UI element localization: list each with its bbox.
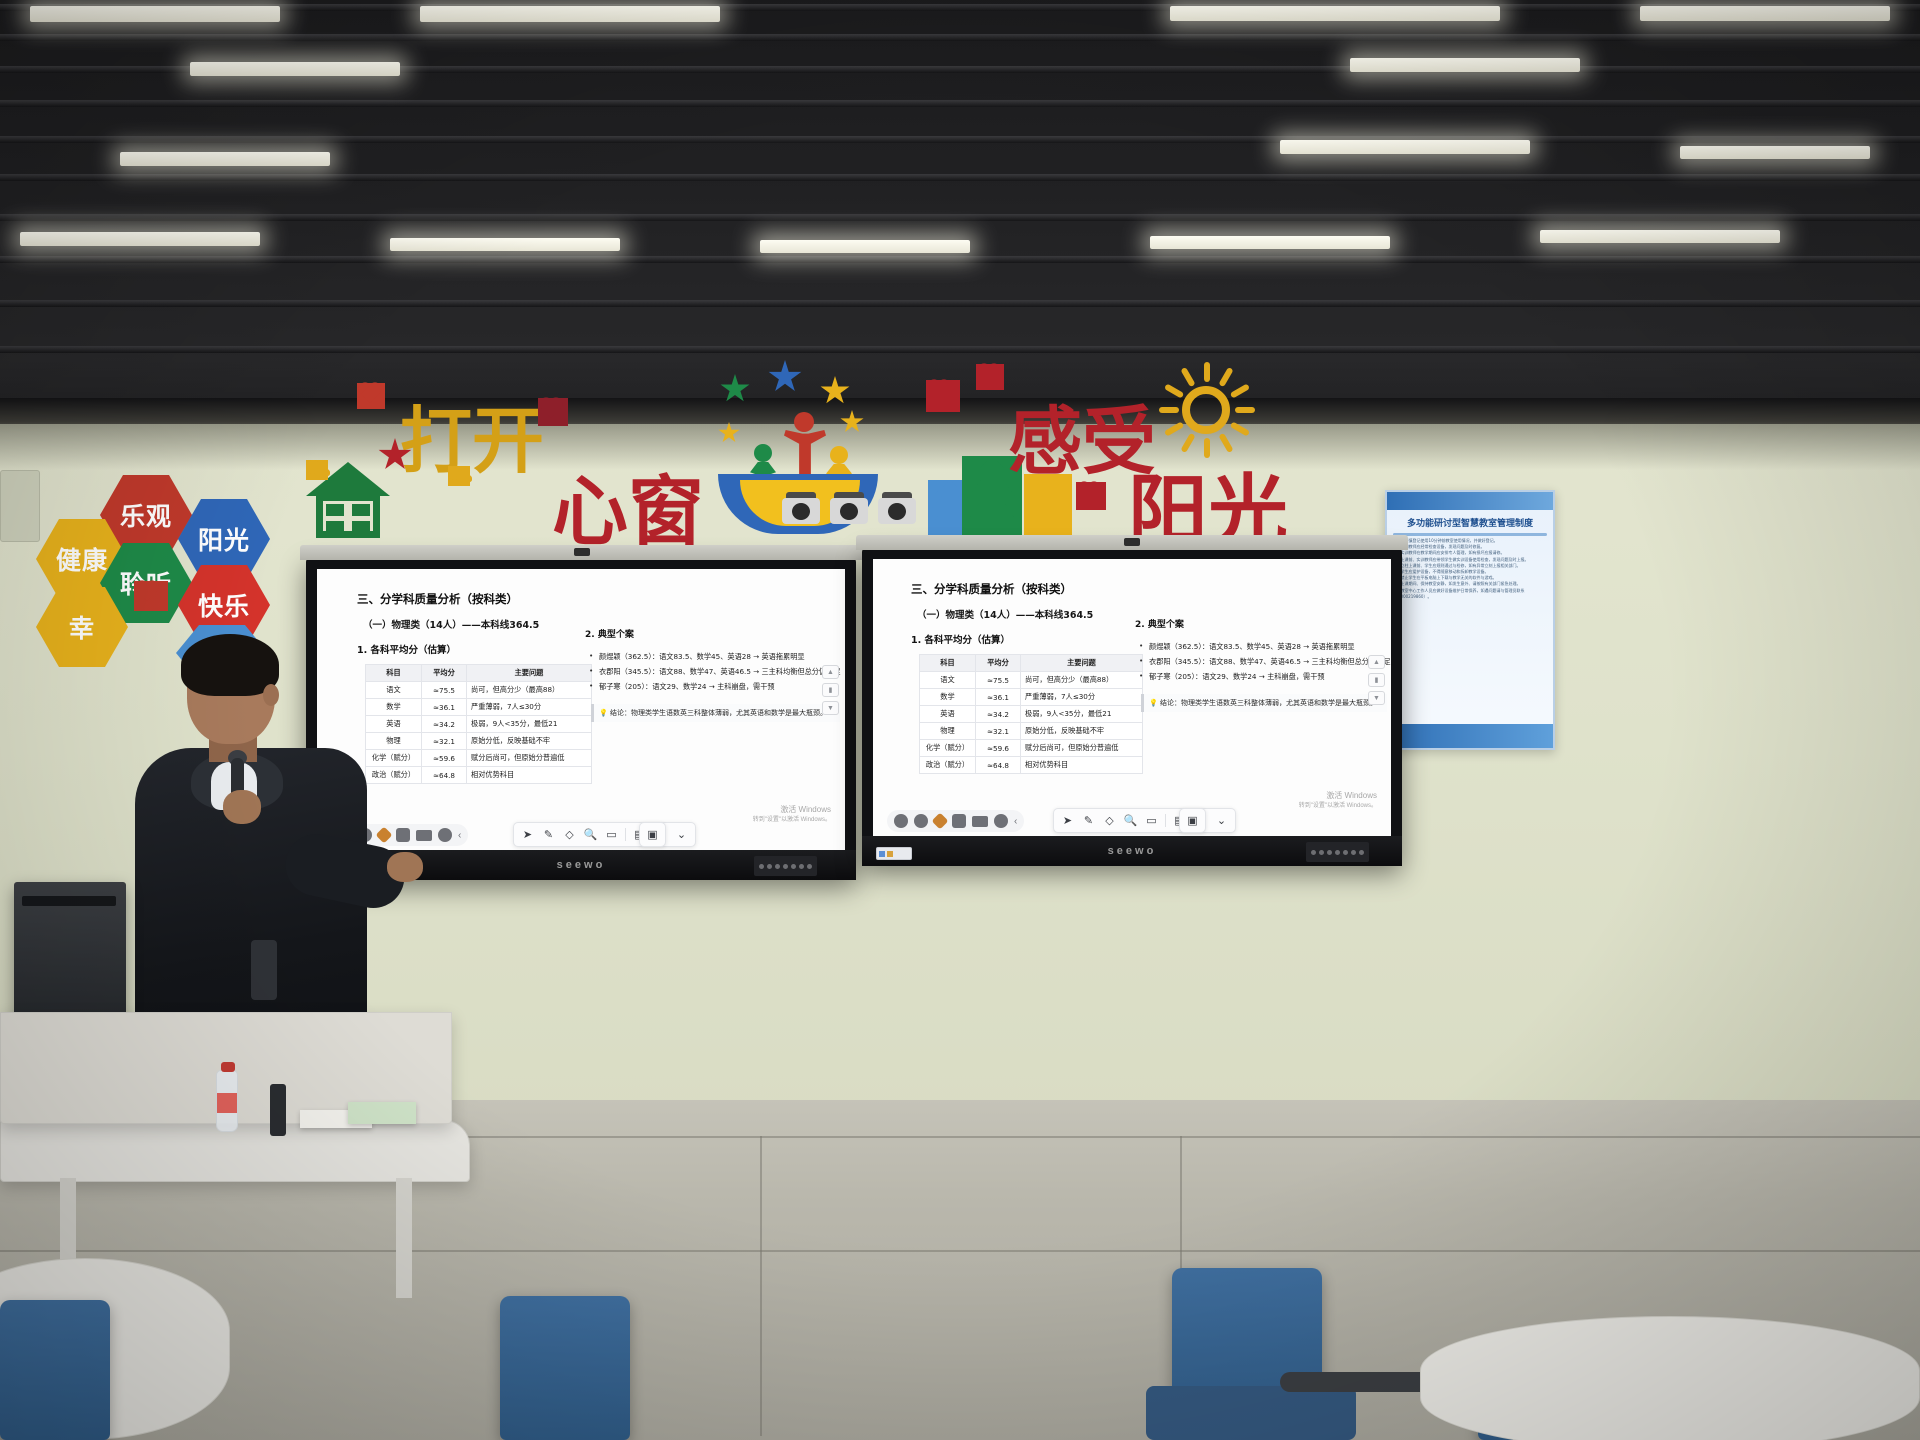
- conclusion-text: 结论：物理类学生语数英三科整体薄弱，尤其英语和数学是最大瓶颈。: [610, 709, 827, 717]
- eraser-icon[interactable]: ◇: [560, 826, 579, 843]
- slide-side-controls[interactable]: ▲ ▮ ▼: [822, 665, 839, 715]
- ceiling-light: [1680, 146, 1870, 159]
- windows-watermark-title: 激活 Windows: [1299, 791, 1377, 802]
- cell-average: ≈75.5: [976, 672, 1021, 689]
- case-item: 郁子寒（205）：语文29、数学24 → 主科崩盘，需干预: [599, 680, 840, 695]
- cell-average: ≈75.5: [422, 682, 467, 699]
- whiteboard-toolbar[interactable]: ➤ ✎ ◇ 🔍 ▭ ▤ ⇪ ⌄: [1053, 808, 1236, 833]
- screen-cast-button[interactable]: ▣: [639, 822, 666, 847]
- wall-word-heartwindow: 心窗: [552, 450, 704, 560]
- water-bottle: [216, 1070, 238, 1132]
- slide-right: 三、分学科质量分析（按科类） （一）物理类（14人）——本科线364.5 1. …: [873, 559, 1391, 836]
- sun-icon: [1158, 362, 1254, 458]
- cell-problem: 极弱，9人<35分，最低21: [467, 716, 592, 733]
- th-average: 平均分: [976, 655, 1021, 672]
- slide-heading: 三、分学科质量分析（按科类）: [911, 581, 1377, 597]
- case-item: 颜煜颖（362.5）：语文83.5、数学45、英语28 → 英语拖累明显: [599, 650, 840, 665]
- left-screen[interactable]: 三、分学科质量分析（按科类） （一）物理类（14人）——本科线364.5 1. …: [317, 569, 845, 850]
- cell-subject: 语文: [920, 672, 976, 689]
- slide-left: 三、分学科质量分析（按科类） （一）物理类（14人）——本科线364.5 1. …: [317, 569, 845, 850]
- bird-icon: [306, 460, 328, 480]
- cell-average: ≈34.2: [976, 706, 1021, 723]
- chevron-down-icon[interactable]: ⌄: [672, 826, 691, 843]
- cursor-icon[interactable]: ➤: [518, 826, 537, 843]
- subject-average-table: 科目 平均分 主要问题 语文 ≈75.5 尚可，但高分少（最高88）: [919, 654, 1143, 774]
- cell-subject: 数学: [920, 689, 976, 706]
- cell-problem: 原始分低，反映基础不牢: [1021, 723, 1143, 740]
- right-screen[interactable]: 三、分学科质量分析（按科类） （一）物理类（14人）——本科线364.5 1. …: [873, 559, 1391, 836]
- cell-subject: 政治（赋分）: [920, 757, 976, 774]
- cell-problem: 严重薄弱，7人≤30分: [467, 699, 592, 716]
- chair: [500, 1296, 630, 1440]
- conclusion-text: 结论：物理类学生语数英三科整体薄弱，尤其英语和数学是最大瓶颈。: [1160, 699, 1377, 707]
- pen-icon[interactable]: [932, 813, 949, 830]
- heart-icon: [538, 398, 568, 426]
- th-problems: 主要问题: [1021, 655, 1143, 672]
- cell-subject: 英语: [920, 706, 976, 723]
- hex-word-cluster: 乐观 阳光 健康 聆听 快乐 幸 温: [40, 475, 330, 655]
- cabinet-slot: [22, 896, 116, 906]
- forward-icon[interactable]: [914, 814, 928, 828]
- more-icon[interactable]: [438, 828, 452, 842]
- windows-watermark-sub: 转到"设置"以激活 Windows。: [1299, 802, 1377, 810]
- table-row: 英语 ≈34.2 极弱，9人<35分，最低21: [366, 716, 592, 733]
- cell-problem: 赋分后尚可，但原始分普遍低: [467, 750, 592, 767]
- ceiling-light: [30, 6, 280, 22]
- th-problems: 主要问题: [467, 665, 592, 682]
- ceiling-camera: [782, 492, 820, 528]
- ceiling-light: [120, 152, 330, 166]
- cell-average: ≈32.1: [976, 723, 1021, 740]
- slide-side-controls[interactable]: ▲ ▮ ▼: [1368, 655, 1385, 705]
- table-row: 政治（赋分） ≈64.8 相对优势科目: [366, 767, 592, 784]
- cell-problem: 相对优势科目: [1021, 757, 1143, 774]
- case-item: 郁子寒（205）：语文29、数学24 → 主科崩盘，需干预: [1149, 670, 1387, 685]
- scroll-handle-icon[interactable]: ▮: [1368, 673, 1385, 687]
- cell-average: ≈32.1: [422, 733, 467, 750]
- table-row: 数学 ≈36.1 严重薄弱，7人≤30分: [920, 689, 1143, 706]
- brand-label: seewo: [1108, 845, 1157, 857]
- presenter-hand: [387, 852, 423, 882]
- wall-word-open: 打开: [400, 382, 544, 487]
- bird-icon: [448, 466, 470, 486]
- right-display-panel[interactable]: 三、分学科质量分析（按科类） （一）物理类（14人）——本科线364.5 1. …: [862, 548, 1402, 866]
- classroom-scene: 乐观 阳光 健康 聆听 快乐 幸 温 打开 心窗: [0, 0, 1920, 1440]
- subject-average-table: 科目 平均分 主要问题 语文 ≈75.5 尚可，但高分少（最高88）: [365, 664, 592, 784]
- poster-management-rules: 多功能研讨型智慧教室管理制度 1、需谨慎登记使用10分钟前教室使用情况，并做好登…: [1385, 490, 1555, 750]
- table-row: 数学 ≈36.1 严重薄弱，7人≤30分: [366, 699, 592, 716]
- table-row: 化学（赋分） ≈59.6 赋分后尚可，但原始分普遍低: [366, 750, 592, 767]
- back-icon[interactable]: [894, 814, 908, 828]
- table-row: 化学（赋分） ≈59.6 赋分后尚可，但原始分普遍低: [920, 740, 1143, 757]
- cursor-icon[interactable]: ➤: [1058, 812, 1077, 829]
- ceiling-light: [760, 240, 970, 253]
- heart-icon: [134, 581, 168, 611]
- bulb-icon: 💡: [599, 709, 608, 717]
- heart-icon: [926, 380, 960, 412]
- cell-average: ≈36.1: [422, 699, 467, 716]
- ceiling-light: [1170, 6, 1500, 21]
- cell-problem: 严重薄弱，7人≤30分: [1021, 689, 1143, 706]
- ceiling-light: [1280, 140, 1530, 154]
- cell-subject: 化学（赋分）: [920, 740, 976, 757]
- port-strip: [754, 856, 817, 876]
- chevron-down-icon[interactable]: ⌄: [1212, 812, 1231, 829]
- screen-cast-button[interactable]: ▣: [1179, 808, 1206, 833]
- scroll-down-icon[interactable]: ▼: [1368, 691, 1385, 705]
- cell-average: ≈64.8: [976, 757, 1021, 774]
- cell-average: ≈36.1: [976, 689, 1021, 706]
- scroll-up-icon[interactable]: ▲: [822, 665, 839, 679]
- case-item: 衣郡阳（345.5）：语文88、数学47、英语46.5 → 三主科均衡但总分仍不…: [1149, 655, 1387, 670]
- th-average: 平均分: [422, 665, 467, 682]
- ceiling-light: [20, 232, 260, 246]
- capture-icon[interactable]: [972, 816, 988, 827]
- ceiling-light: [1350, 58, 1580, 72]
- cell-average: ≈34.2: [422, 716, 467, 733]
- cell-average: ≈59.6: [976, 740, 1021, 757]
- chair-seat: [1146, 1386, 1356, 1440]
- windows-watermark-title: 激活 Windows: [753, 805, 831, 816]
- screen-icon[interactable]: ▣: [1183, 812, 1202, 829]
- ceiling-light: [1640, 6, 1890, 21]
- cell-average: ≈64.8: [422, 767, 467, 784]
- ceiling-light: [1150, 236, 1390, 249]
- capture-icon[interactable]: [416, 830, 432, 841]
- left-display-panel[interactable]: 三、分学科质量分析（按科类） （一）物理类（14人）——本科线364.5 1. …: [306, 558, 856, 880]
- scroll-up-icon[interactable]: ▲: [1368, 655, 1385, 669]
- whiteboard-toolbar[interactable]: ➤ ✎ ◇ 🔍 ▭ ▤ ⇪ ⌄: [513, 822, 696, 847]
- table-header-row: 科目 平均分 主要问题: [366, 665, 592, 682]
- magnifier-icon[interactable]: 🔍: [1121, 812, 1140, 829]
- ceiling: [0, 0, 1920, 420]
- round-table: [1420, 1316, 1920, 1440]
- taskbar-chip[interactable]: [876, 847, 912, 860]
- scroll-down-icon[interactable]: ▼: [822, 701, 839, 715]
- cell-problem: 尚可，但高分少（最高88）: [1021, 672, 1143, 689]
- cell-average: ≈59.6: [422, 750, 467, 767]
- table-header-row: 科目 平均分 主要问题: [920, 655, 1143, 672]
- annotation-dock[interactable]: ‹: [887, 810, 1024, 832]
- table-row: 物理 ≈32.1 原始分低，反映基础不牢: [366, 733, 592, 750]
- cell-problem: 尚可，但高分少（最高88）: [467, 682, 592, 699]
- select-icon[interactable]: [396, 828, 410, 842]
- eraser-icon[interactable]: ◇: [1100, 812, 1119, 829]
- cell-problem: 相对优势科目: [467, 767, 592, 784]
- pen-icon[interactable]: ✎: [539, 826, 558, 843]
- cell-problem: 极弱，9人<35分，最低21: [1021, 706, 1143, 723]
- ceiling-light: [1540, 230, 1780, 243]
- cell-problem: 原始分低，反映基础不牢: [467, 733, 592, 750]
- wall-box: [0, 470, 40, 542]
- windows-watermark-sub: 转到"设置"以激活 Windows。: [753, 816, 831, 824]
- collapse-icon[interactable]: ‹: [1014, 816, 1017, 827]
- section2-title: 2. 典型个案: [585, 627, 840, 640]
- heart-icon: [976, 364, 1004, 390]
- case-item: 颜煜颖（362.5）：语文83.5、数学45、英语28 → 英语拖累明显: [1149, 640, 1387, 655]
- collapse-icon[interactable]: ‹: [458, 830, 461, 841]
- cell-subject: 物理: [920, 723, 976, 740]
- table-row: 语文 ≈75.5 尚可，但高分少（最高88）: [920, 672, 1143, 689]
- port-strip: [1306, 842, 1369, 862]
- papers-green: [348, 1102, 416, 1124]
- remote-control: [270, 1084, 286, 1136]
- heart-icon: [357, 383, 385, 409]
- ceiling-light: [190, 62, 400, 76]
- ceiling-light: [420, 6, 720, 22]
- note-icon[interactable]: ▭: [602, 826, 621, 843]
- poster-body: 1、需谨慎登记使用10分钟前教室使用情况，并做好登记。 2、实训教师应经常检查设…: [1387, 538, 1553, 600]
- table-row: 英语 ≈34.2 极弱，9人<35分，最低21: [920, 706, 1143, 723]
- ceiling-light: [390, 238, 620, 251]
- table-row: 政治（赋分） ≈64.8 相对优势科目: [920, 757, 1143, 774]
- slide-heading: 三、分学科质量分析（按科类）: [357, 591, 831, 607]
- pen-icon[interactable]: ✎: [1079, 812, 1098, 829]
- select-icon[interactable]: [952, 814, 966, 828]
- cell-problem: 赋分后尚可，但原始分普遍低: [1021, 740, 1143, 757]
- table-row: 物理 ≈32.1 原始分低，反映基础不牢: [920, 723, 1143, 740]
- chair: [0, 1300, 110, 1440]
- screen-icon[interactable]: ▣: [643, 826, 662, 843]
- scroll-handle-icon[interactable]: ▮: [822, 683, 839, 697]
- more-icon[interactable]: [994, 814, 1008, 828]
- ceiling-camera: [878, 492, 916, 528]
- brand-label: seewo: [557, 859, 606, 871]
- magnifier-icon[interactable]: 🔍: [581, 826, 600, 843]
- case-item: 衣郡阳（345.5）：语文88、数学47、英语46.5 → 三主科均衡但总分仍不…: [599, 665, 840, 680]
- table-row: 语文 ≈75.5 尚可，但高分少（最高88）: [366, 682, 592, 699]
- poster-title: 多功能研讨型智慧教室管理制度: [1387, 516, 1553, 529]
- th-subject: 科目: [920, 655, 976, 672]
- bulb-icon: 💡: [1149, 699, 1158, 707]
- note-icon[interactable]: ▭: [1142, 812, 1161, 829]
- ceiling-camera: [830, 492, 868, 528]
- section2-title: 2. 典型个案: [1135, 617, 1387, 630]
